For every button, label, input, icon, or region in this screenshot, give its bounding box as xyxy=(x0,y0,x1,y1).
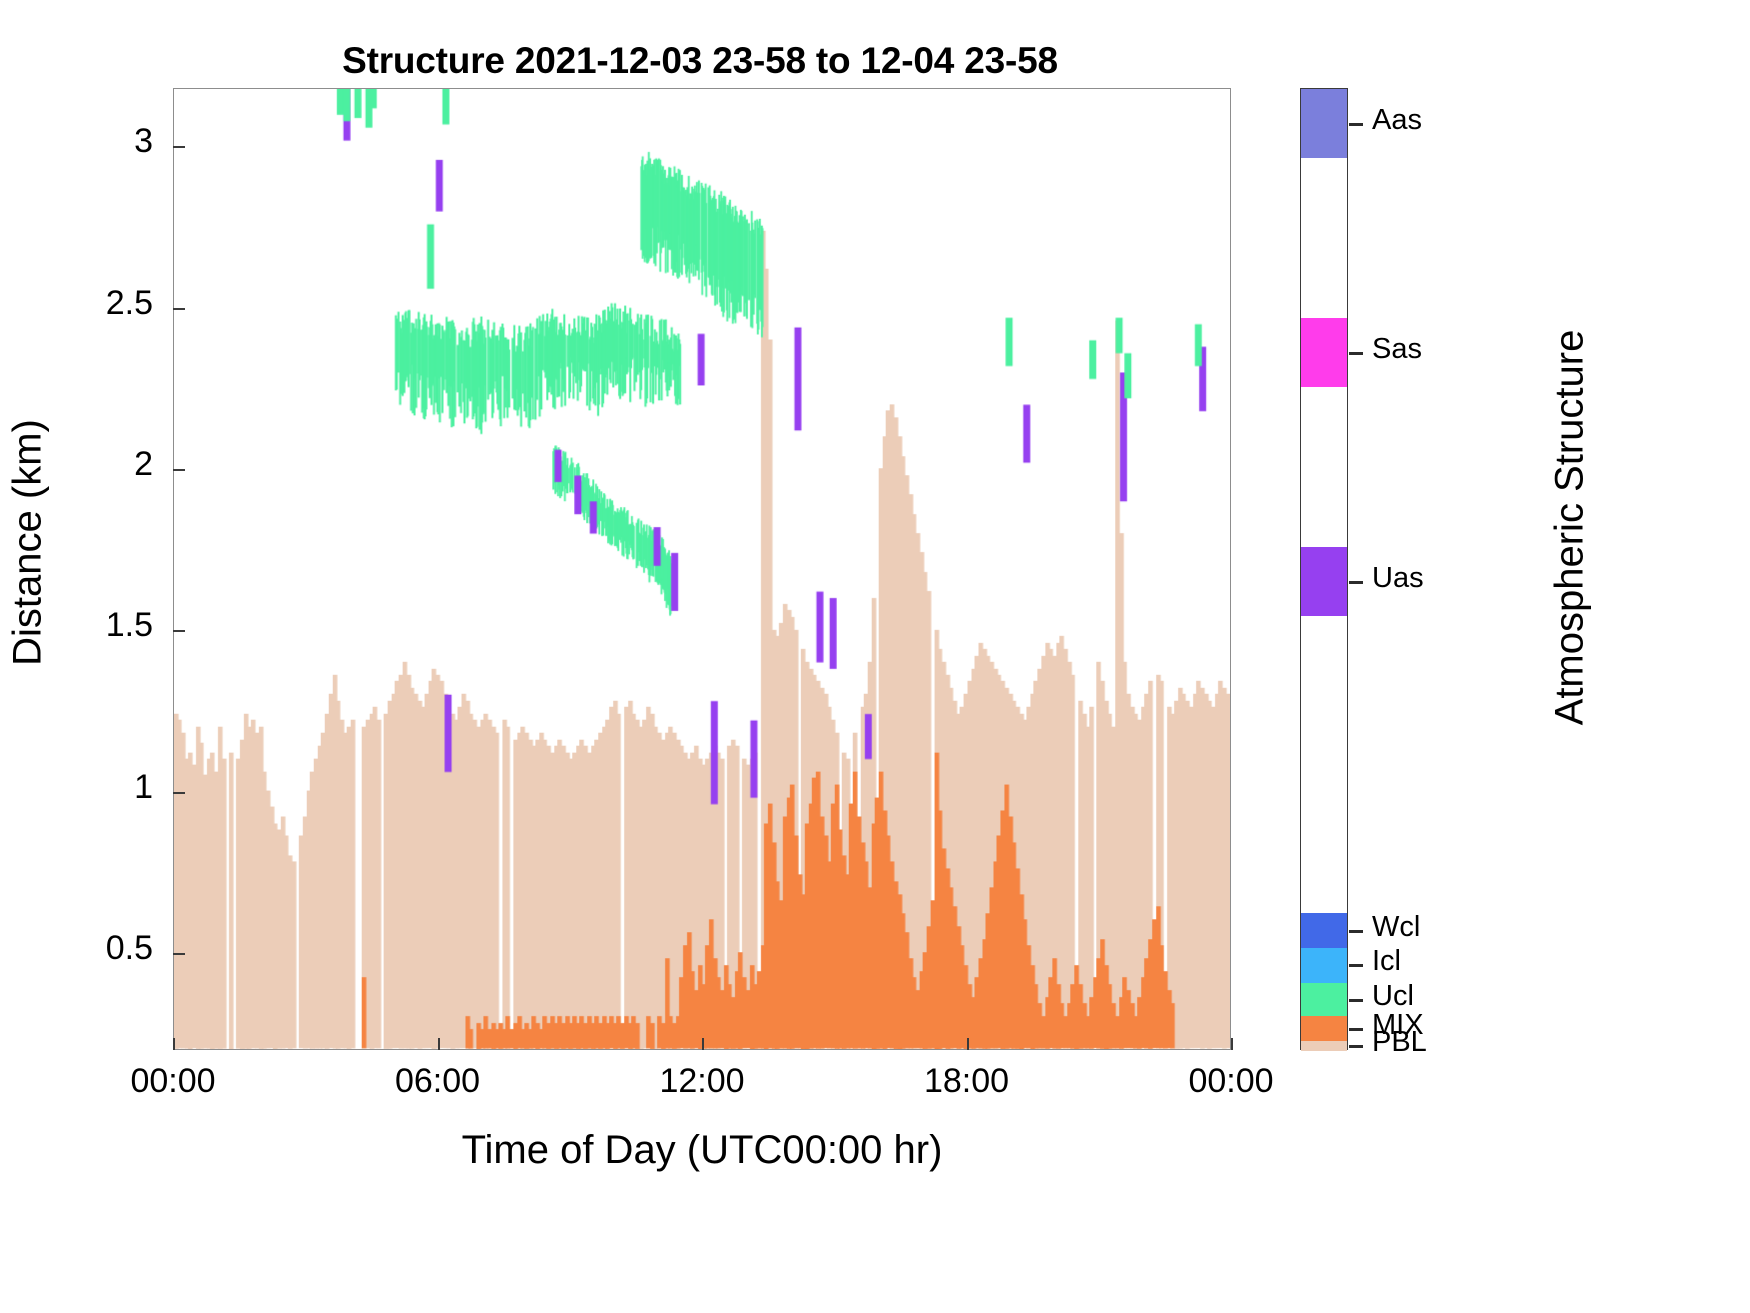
colorbar-label-pbl: PBL xyxy=(1372,1026,1427,1059)
colorbar-label-sas: Sas xyxy=(1372,333,1422,366)
x-tick-label: 00:00 xyxy=(83,1062,263,1101)
y-tick-mark xyxy=(173,146,185,148)
colorbar-tick xyxy=(1349,352,1363,355)
y-axis-label: Distance (km) xyxy=(6,193,51,893)
colorbar-segment-mix xyxy=(1301,1016,1347,1041)
y-tick-mark xyxy=(173,953,185,955)
y-tick-label: 3 xyxy=(13,122,153,161)
x-tick-label: 00:00 xyxy=(1141,1062,1321,1101)
colorbar-segment-sas xyxy=(1301,318,1347,387)
structure-plot-canvas xyxy=(174,89,1230,1049)
colorbar-label-aas: Aas xyxy=(1372,104,1422,137)
y-tick-mark xyxy=(173,469,185,471)
colorbar-tick xyxy=(1349,1028,1363,1031)
colorbar-segment-uas xyxy=(1301,547,1347,616)
colorbar-tick xyxy=(1349,964,1363,967)
chart-title: Structure 2021-12-03 23-58 to 12-04 23-5… xyxy=(170,40,1230,82)
x-tick-mark xyxy=(438,1038,440,1050)
y-tick-label: 0.5 xyxy=(13,929,153,968)
colorbar-segment-aas xyxy=(1301,89,1347,158)
y-tick-mark xyxy=(173,308,185,310)
x-tick-label: 18:00 xyxy=(877,1062,1057,1101)
x-tick-mark xyxy=(702,1038,704,1050)
colorbar-tick xyxy=(1349,930,1363,933)
colorbar-segment-icl xyxy=(1301,948,1347,983)
colorbar-label-ucl: Ucl xyxy=(1372,980,1414,1013)
y-tick-mark xyxy=(173,792,185,794)
colorbar-tick xyxy=(1349,581,1363,584)
colorbar-segment-pbl xyxy=(1301,1041,1347,1051)
colorbar-title: Atmospheric Structure xyxy=(1548,158,1593,898)
colorbar-label-wcl: Wcl xyxy=(1372,911,1420,944)
x-tick-mark xyxy=(967,1038,969,1050)
colorbar xyxy=(1300,88,1348,1050)
colorbar-segment-ucl xyxy=(1301,983,1347,1017)
x-axis-label: Time of Day (UTC00:00 hr) xyxy=(173,1128,1231,1173)
x-tick-label: 06:00 xyxy=(348,1062,528,1101)
x-tick-label: 12:00 xyxy=(612,1062,792,1101)
colorbar-label-uas: Uas xyxy=(1372,562,1424,595)
colorbar-tick xyxy=(1349,123,1363,126)
x-tick-mark xyxy=(173,1038,175,1050)
colorbar-label-icl: Icl xyxy=(1372,945,1401,978)
colorbar-tick xyxy=(1349,999,1363,1002)
x-tick-mark xyxy=(1231,1038,1233,1050)
y-tick-mark xyxy=(173,630,185,632)
colorbar-tick xyxy=(1349,1045,1363,1048)
plot-area xyxy=(173,88,1231,1050)
figure-root: Structure 2021-12-03 23-58 to 12-04 23-5… xyxy=(0,0,1750,1313)
colorbar-segment-wcl xyxy=(1301,913,1347,948)
